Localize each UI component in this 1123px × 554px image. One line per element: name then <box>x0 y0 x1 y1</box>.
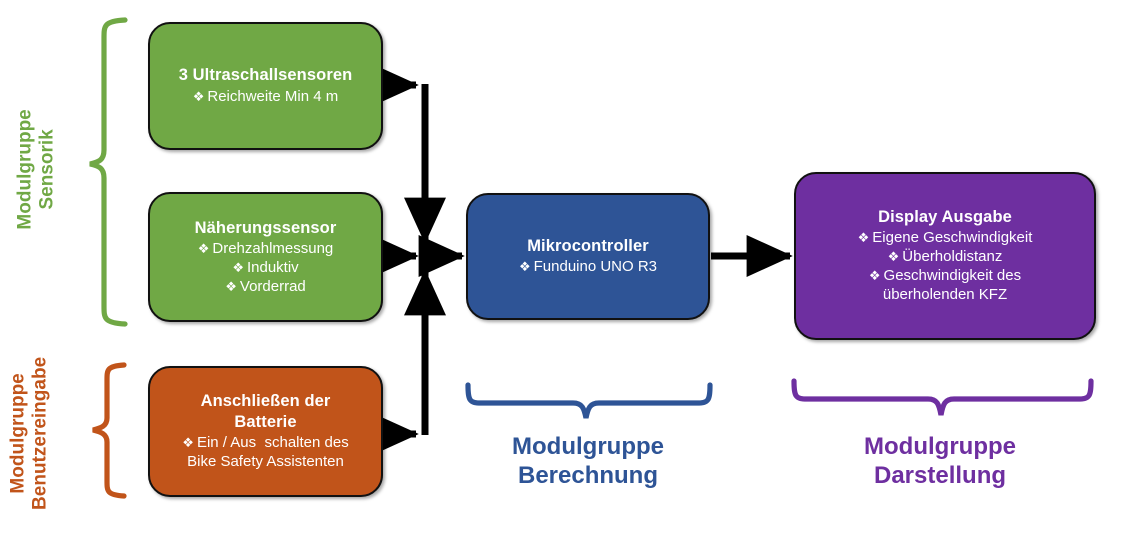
group-label-berechnung: ModulgruppeBerechnung <box>440 432 736 491</box>
bullet-icon: ❖ <box>193 89 205 104</box>
diagram-canvas: 3 Ultraschallsensoren ❖Reichweite Min 4 … <box>0 0 1123 554</box>
box-title: 3 Ultraschallsensoren <box>179 65 353 85</box>
group-label-darstellung: ModulgruppeDarstellung <box>770 432 1110 491</box>
bullet-text: Drehzahlmessung <box>212 240 333 257</box>
box-bullets: ❖Ein / Aus schalten des Bike Safety Assi… <box>182 434 348 472</box>
brace-benutzereingabe <box>93 365 124 496</box>
bullet-text: Funduino UNO R3 <box>534 258 657 275</box>
bullet-icon: ❖ <box>225 279 237 294</box>
bullet-text: Überholdistanz <box>902 248 1002 265</box>
bullet-text: Reichweite Min 4 m <box>207 88 338 105</box>
bullet-text: Eigene Geschwindigkeit <box>872 229 1032 246</box>
bullet-icon: ❖ <box>888 249 900 264</box>
bullet-text: überholenden KFZ <box>883 286 1007 303</box>
box-title: Display Ausgabe <box>878 207 1012 227</box>
box-mikrocontroller[interactable]: Mikrocontroller ❖Funduino UNO R3 <box>466 193 710 320</box>
bullet-text: Bike Safety Assistenten <box>187 453 344 470</box>
box-bullets: ❖Funduino UNO R3 <box>519 258 657 277</box>
bullet-icon: ❖ <box>198 241 210 256</box>
group-label-sensorik: ModulgruppeSensorik <box>15 69 60 269</box>
box-title: Mikrocontroller <box>527 236 649 256</box>
brace-berechnung <box>468 385 710 418</box>
brace-darstellung <box>794 381 1091 415</box>
bullet-icon: ❖ <box>182 435 194 450</box>
brace-sensorik <box>90 20 125 324</box>
bullet-icon: ❖ <box>519 259 531 274</box>
bullet-text: Vorderrad <box>240 278 306 295</box>
bullet-text: Geschwindigkeit des <box>884 267 1022 284</box>
box-title: Näherungssensor <box>195 218 337 238</box>
box-bullets: ❖Drehzahlmessung ❖Induktiv ❖Vorderrad <box>198 240 334 297</box>
bullet-icon: ❖ <box>858 230 870 245</box>
box-ultraschallsensoren[interactable]: 3 Ultraschallsensoren ❖Reichweite Min 4 … <box>148 22 383 150</box>
box-bullets: ❖Reichweite Min 4 m <box>193 88 339 107</box>
bullet-icon: ❖ <box>232 260 244 275</box>
bullet-icon: ❖ <box>869 268 881 283</box>
group-label-benutzereingabe: ModulgruppeBenutzereingabe <box>8 323 53 543</box>
box-naeherungssensor[interactable]: Näherungssensor ❖Drehzahlmessung ❖Indukt… <box>148 192 383 322</box>
connector-ultrasonic-to-junction <box>383 84 425 241</box>
box-title: Anschließen derBatterie <box>201 391 331 431</box>
bullet-text: Ein / Aus schalten des <box>197 434 349 451</box>
box-bullets: ❖Eigene Geschwindigkeit ❖Überholdistanz … <box>858 229 1033 305</box>
connector-battery-to-junction <box>383 272 425 435</box>
bullet-text: Induktiv <box>247 259 299 276</box>
box-batterie[interactable]: Anschließen derBatterie ❖Ein / Aus schal… <box>148 366 383 497</box>
box-display-ausgabe[interactable]: Display Ausgabe ❖Eigene Geschwindigkeit … <box>794 172 1096 340</box>
